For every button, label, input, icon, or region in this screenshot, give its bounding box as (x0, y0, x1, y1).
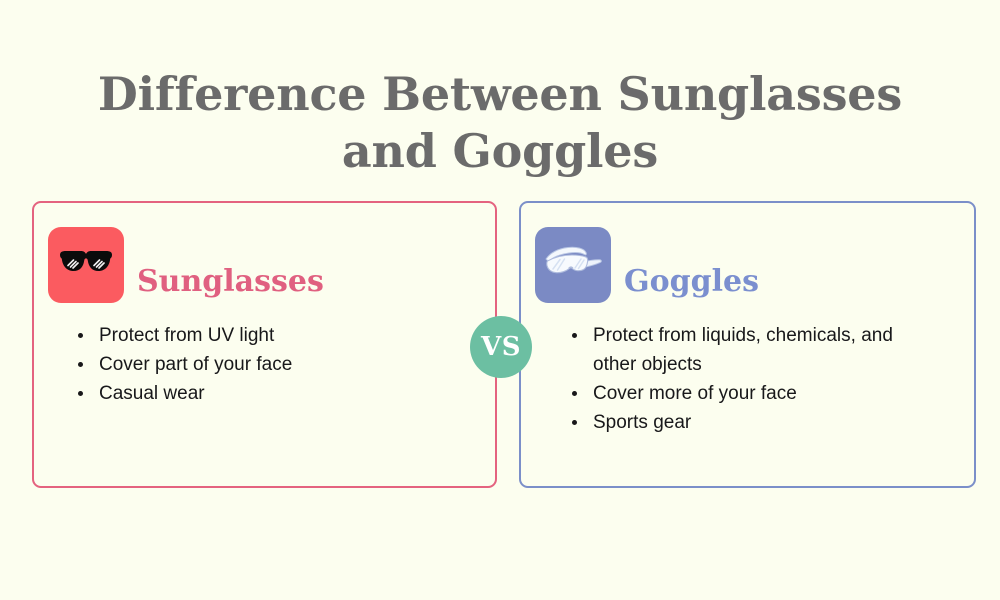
page-title-line-1: Difference Between Sunglasses (0, 66, 1000, 123)
sunglasses-icon-tile (48, 227, 124, 303)
versus-badge-label: VS (481, 334, 521, 360)
feature-list-sunglasses: Protect from UV light Cover part of your… (72, 321, 452, 408)
card-title-goggles: Goggles (624, 267, 759, 303)
feature-list-goggles: Protect from liquids, chemicals, and oth… (566, 321, 936, 437)
versus-badge: VS (470, 316, 532, 378)
list-item: Cover part of your face (72, 350, 452, 379)
card-header-sunglasses: Sunglasses (48, 203, 324, 303)
sunglasses-icon (57, 248, 115, 282)
card-title-sunglasses: Sunglasses (137, 267, 324, 303)
comparison-card-sunglasses: Sunglasses Protect from UV light Cover p… (32, 201, 497, 488)
card-header-goggles: Goggles (535, 203, 759, 303)
comparison-card-goggles: Goggles Protect from liquids, chemicals,… (519, 201, 976, 488)
list-item: Cover more of your face (566, 379, 936, 408)
list-item: Casual wear (72, 379, 452, 408)
goggles-icon (542, 243, 604, 287)
goggles-icon-tile (535, 227, 611, 303)
list-item: Protect from liquids, chemicals, and oth… (566, 321, 936, 379)
page-title-line-2: and Goggles (0, 123, 1000, 180)
list-item: Sports gear (566, 408, 936, 437)
page-title: Difference Between Sunglasses and Goggle… (0, 66, 1000, 180)
list-item: Protect from UV light (72, 321, 452, 350)
